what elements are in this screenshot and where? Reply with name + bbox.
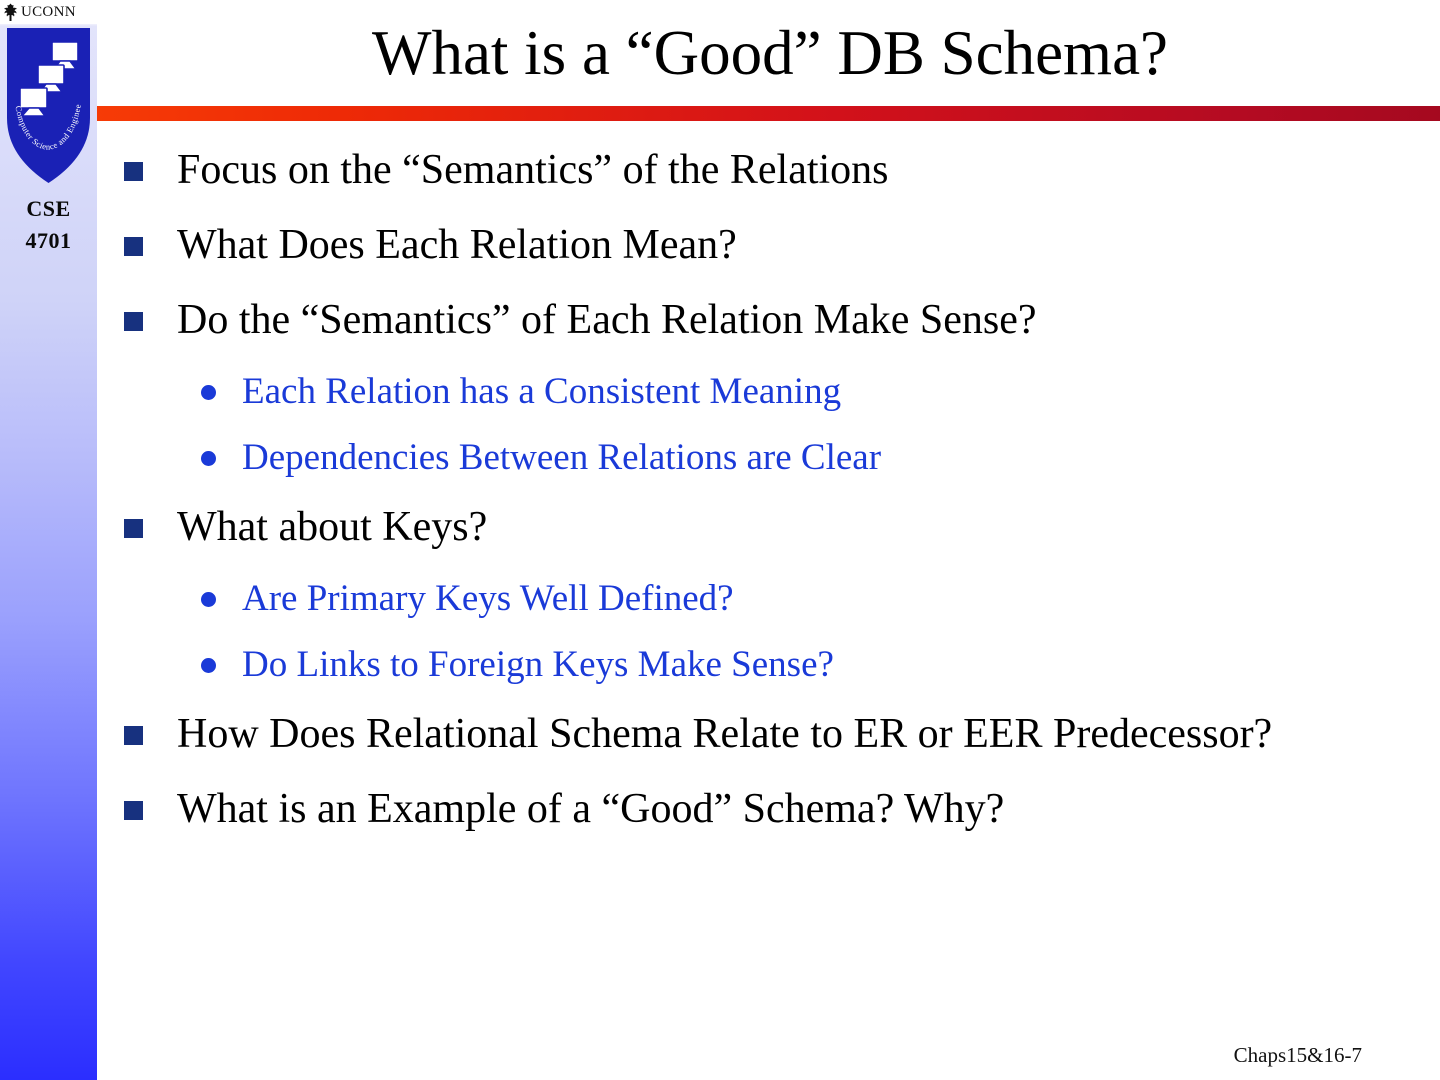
course-code: CSE [0,193,97,225]
sub-list-item-text: Are Primary Keys Well Defined? [242,578,734,619]
bullet-list: Focus on the “Semantics” of the Relation… [97,136,1440,1026]
square-bullet-icon [124,801,143,820]
uconn-wordmark-label: UCONN [21,5,76,20]
list-item: Focus on the “Semantics” of the Relation… [97,136,1440,205]
slide: UCONN [0,0,1440,1080]
sub-list-item: Dependencies Between Relations are Clear [97,427,1440,489]
square-bullet-icon [124,162,143,181]
sub-list-item-text: Each Relation has a Consistent Meaning [242,371,841,412]
page-title: What is a “Good” DB Schema? [110,14,1430,92]
sub-list-item-text: Do Links to Foreign Keys Make Sense? [242,644,834,685]
list-item: What Does Each Relation Mean? [97,211,1440,280]
title-divider-bar [97,106,1440,121]
cse-shield-logo: Computer Science and Engineering [5,26,92,186]
list-item: Do the “Semantics” of Each Relation Make… [97,286,1440,355]
slide-reference-footer: Chaps15&16-7 [1234,1042,1362,1068]
list-item-text: How Does Relational Schema Relate to ER … [177,711,1272,757]
square-bullet-icon [124,237,143,256]
list-item: How Does Relational Schema Relate to ER … [97,700,1440,769]
list-item-text: Do the “Semantics” of Each Relation Make… [177,297,1037,343]
shield-icon: Computer Science and Engineering [5,26,92,186]
round-bullet-icon [201,658,216,673]
course-label: CSE 4701 [0,193,97,257]
uconn-oak-leaf-icon [2,3,19,22]
list-item-text: What Does Each Relation Mean? [177,222,737,268]
list-item: What about Keys? [97,493,1440,562]
round-bullet-icon [201,451,216,466]
sidebar: UCONN [0,0,97,1080]
sub-list-item: Do Links to Foreign Keys Make Sense? [97,634,1440,696]
list-item: What is an Example of a “Good” Schema? W… [97,775,1440,844]
sub-list-item: Each Relation has a Consistent Meaning [97,361,1440,423]
sub-list-item: Are Primary Keys Well Defined? [97,568,1440,630]
square-bullet-icon [124,312,143,331]
list-item-text: Focus on the “Semantics” of the Relation… [177,147,889,193]
round-bullet-icon [201,592,216,607]
course-number: 4701 [0,225,97,257]
sub-list-item-text: Dependencies Between Relations are Clear [242,437,881,478]
square-bullet-icon [124,726,143,745]
uconn-wordmark: UCONN [0,0,97,24]
list-item-text: What is an Example of a “Good” Schema? W… [177,786,1004,832]
square-bullet-icon [124,519,143,538]
round-bullet-icon [201,385,216,400]
list-item-text: What about Keys? [177,504,487,550]
